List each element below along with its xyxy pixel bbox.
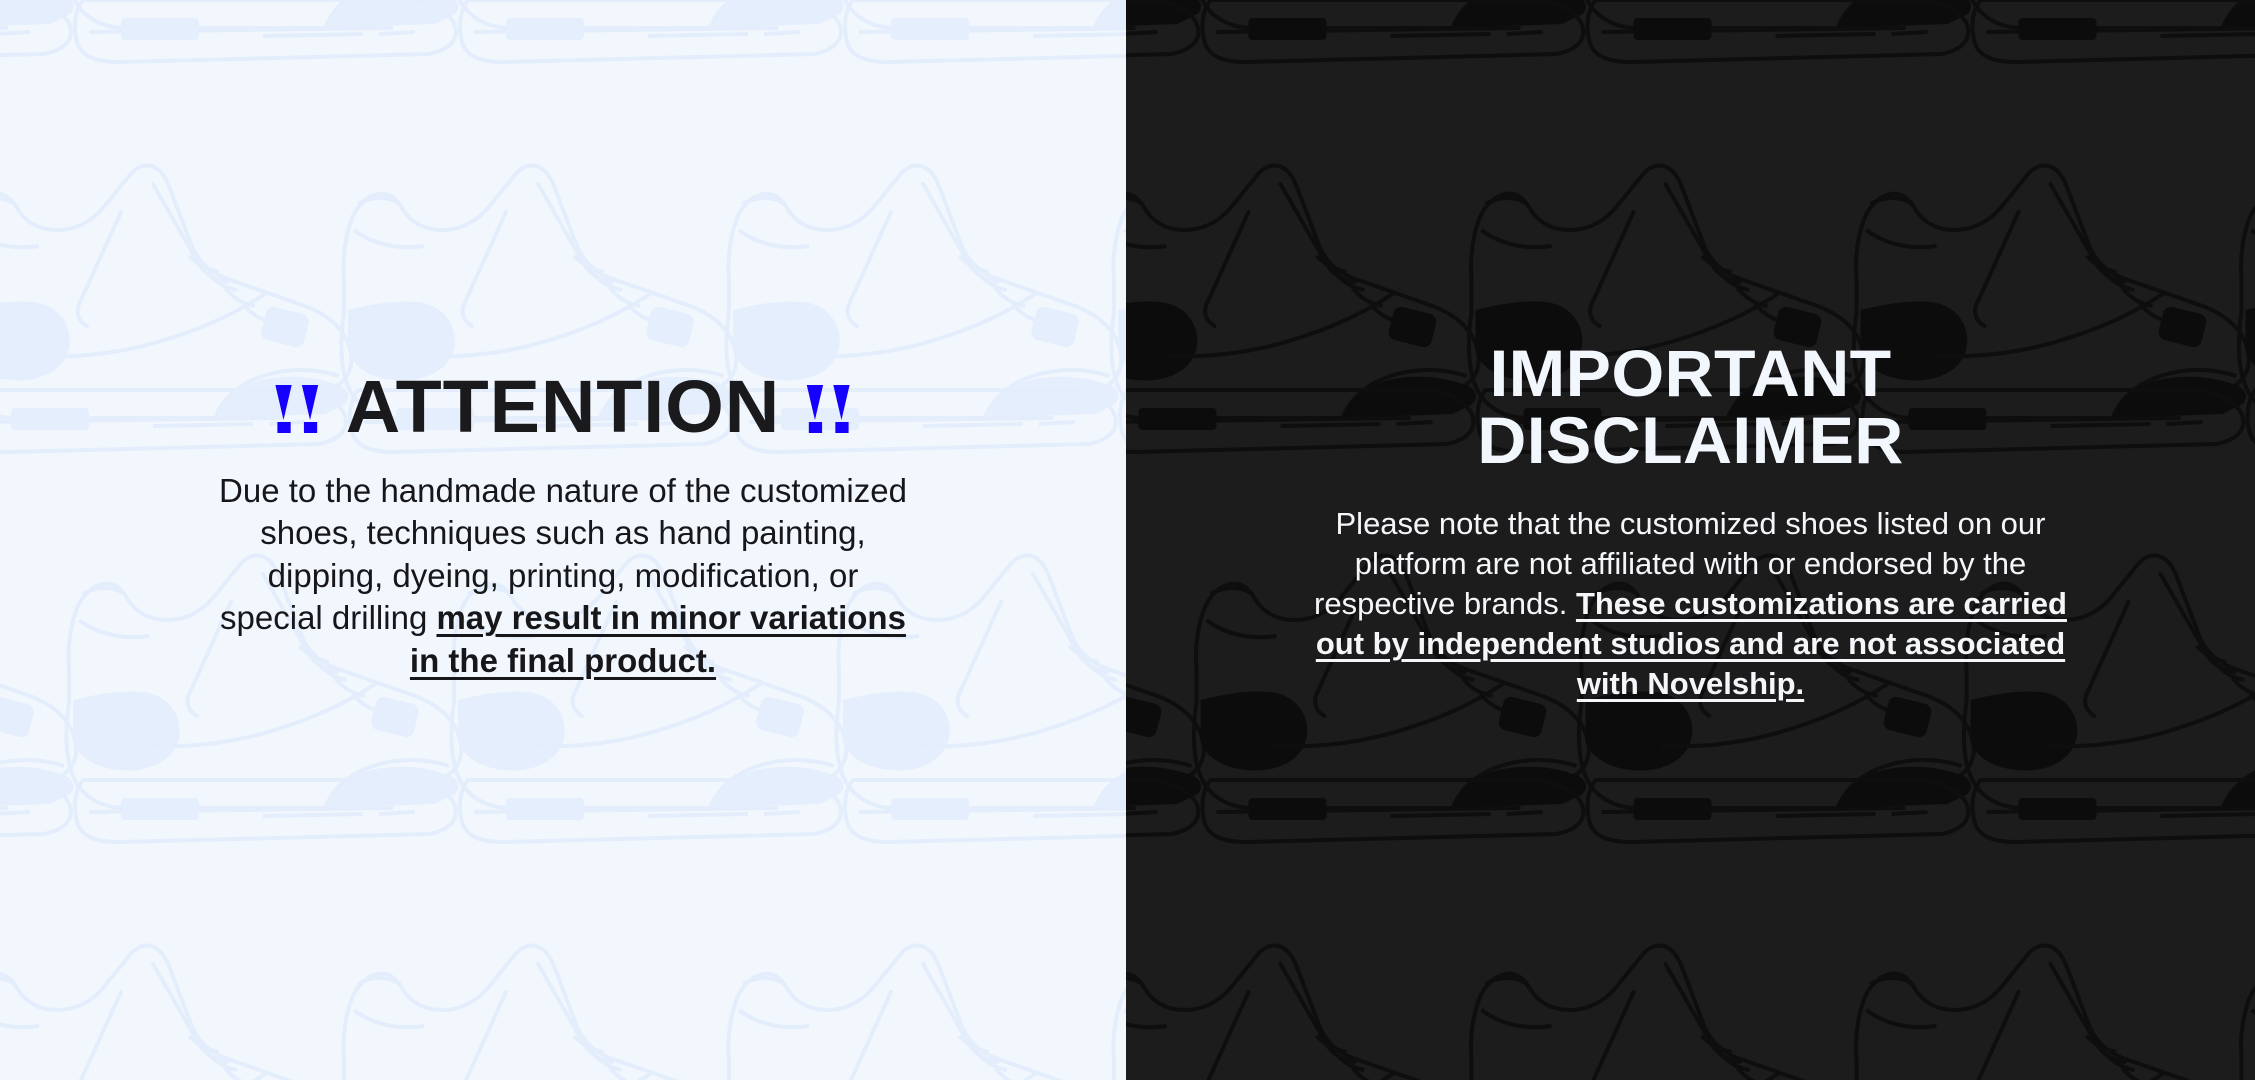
attention-heading-text: ATTENTION bbox=[346, 370, 780, 444]
double-exclamation-right-icon bbox=[807, 385, 851, 433]
attention-body: Due to the handmade nature of the custom… bbox=[213, 470, 913, 683]
disclaimer-content: IMPORTANT DISCLAIMER Please note that th… bbox=[1126, 340, 2255, 705]
disclaimer-panel: IMPORTANT DISCLAIMER Please note that th… bbox=[1126, 0, 2255, 1080]
disclaimer-banner: ATTENTION Due to the handmade nature of … bbox=[0, 0, 2255, 1080]
disclaimer-heading-line2: DISCLAIMER bbox=[1477, 403, 1903, 477]
attention-heading: ATTENTION bbox=[30, 370, 1097, 444]
disclaimer-body: Please note that the customized shoes li… bbox=[1311, 504, 2071, 704]
disclaimer-heading-line1: IMPORTANT bbox=[1489, 336, 1891, 410]
disclaimer-heading: IMPORTANT DISCLAIMER bbox=[1150, 340, 2230, 475]
attention-panel: ATTENTION Due to the handmade nature of … bbox=[0, 0, 1126, 1080]
double-exclamation-left-icon bbox=[275, 385, 319, 433]
attention-content: ATTENTION Due to the handmade nature of … bbox=[0, 370, 1126, 683]
attention-body-emphasis: may result in minor variations in the fi… bbox=[410, 599, 906, 679]
